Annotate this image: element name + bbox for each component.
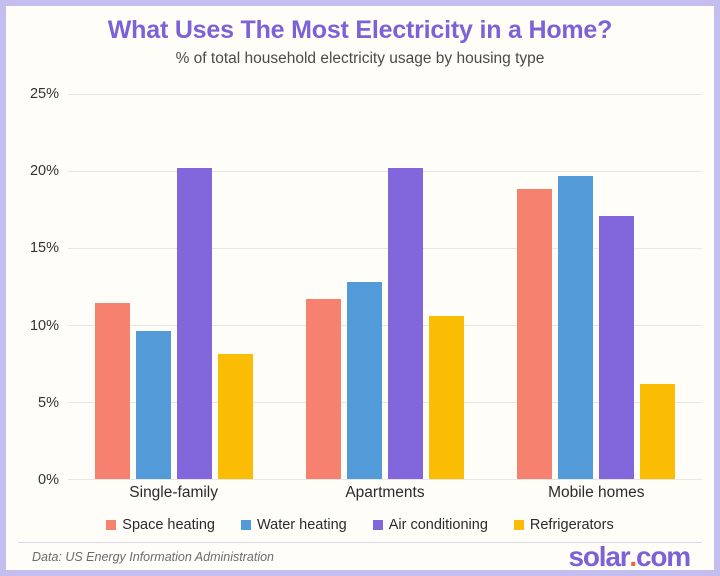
legend-swatch-icon — [373, 520, 383, 530]
gridline: 0% — [68, 479, 702, 480]
x-axis-labels: Single-familyApartmentsMobile homes — [68, 484, 702, 508]
legend-label: Air conditioning — [389, 517, 488, 533]
chart-footer: Data: US Energy Information Administrati… — [6, 543, 714, 570]
bar[interactable] — [218, 354, 253, 479]
bar[interactable] — [599, 216, 634, 479]
plot-area: 0%5%10%15%20%25% — [68, 94, 702, 479]
brand-tld: com — [636, 543, 690, 571]
legend-item[interactable]: Refrigerators — [514, 517, 614, 533]
bar-group — [517, 94, 675, 479]
chart-legend: Space heatingWater heatingAir conditioni… — [6, 512, 714, 538]
chart-header: What Uses The Most Electricity in a Home… — [6, 6, 714, 82]
bar[interactable] — [136, 331, 171, 479]
legend-label: Water heating — [257, 517, 347, 533]
bar[interactable] — [177, 168, 212, 479]
y-axis-tick-label: 5% — [38, 395, 59, 411]
bar[interactable] — [429, 316, 464, 479]
chart-title: What Uses The Most Electricity in a Home… — [6, 6, 714, 45]
bar[interactable] — [306, 299, 341, 479]
legend-item[interactable]: Space heating — [106, 517, 215, 533]
source-note: Data: US Energy Information Administrati… — [32, 550, 274, 564]
y-axis-tick-label: 10% — [30, 318, 59, 334]
brand-dot: . — [629, 543, 636, 571]
y-axis-tick-label: 15% — [30, 240, 59, 256]
legend-swatch-icon — [241, 520, 251, 530]
legend-swatch-icon — [106, 520, 116, 530]
y-axis-tick-label: 0% — [38, 472, 59, 488]
y-axis-tick-label: 20% — [30, 163, 59, 179]
x-axis-label-1: Apartments — [297, 484, 472, 508]
bar-group — [306, 94, 464, 479]
chart-subtitle: % of total household electricity usage b… — [6, 45, 714, 69]
y-axis-tick-label: 25% — [30, 86, 59, 102]
bar[interactable] — [95, 303, 130, 479]
x-axis-label-0: Single-family — [86, 484, 261, 508]
legend-swatch-icon — [514, 520, 524, 530]
bar-group — [95, 94, 253, 479]
bar[interactable] — [388, 168, 423, 479]
chart-card: What Uses The Most Electricity in a Home… — [0, 0, 720, 576]
solar-com-logo[interactable]: solar.com — [568, 543, 690, 571]
legend-label: Space heating — [122, 517, 215, 533]
bar[interactable] — [347, 282, 382, 479]
bar-groups — [68, 94, 702, 479]
bar[interactable] — [558, 176, 593, 479]
legend-item[interactable]: Water heating — [241, 517, 347, 533]
legend-item[interactable]: Air conditioning — [373, 517, 488, 533]
x-axis-label-2: Mobile homes — [509, 484, 684, 508]
bar[interactable] — [517, 189, 552, 479]
bar[interactable] — [640, 384, 675, 479]
brand-name: solar — [568, 543, 629, 571]
legend-label: Refrigerators — [530, 517, 614, 533]
